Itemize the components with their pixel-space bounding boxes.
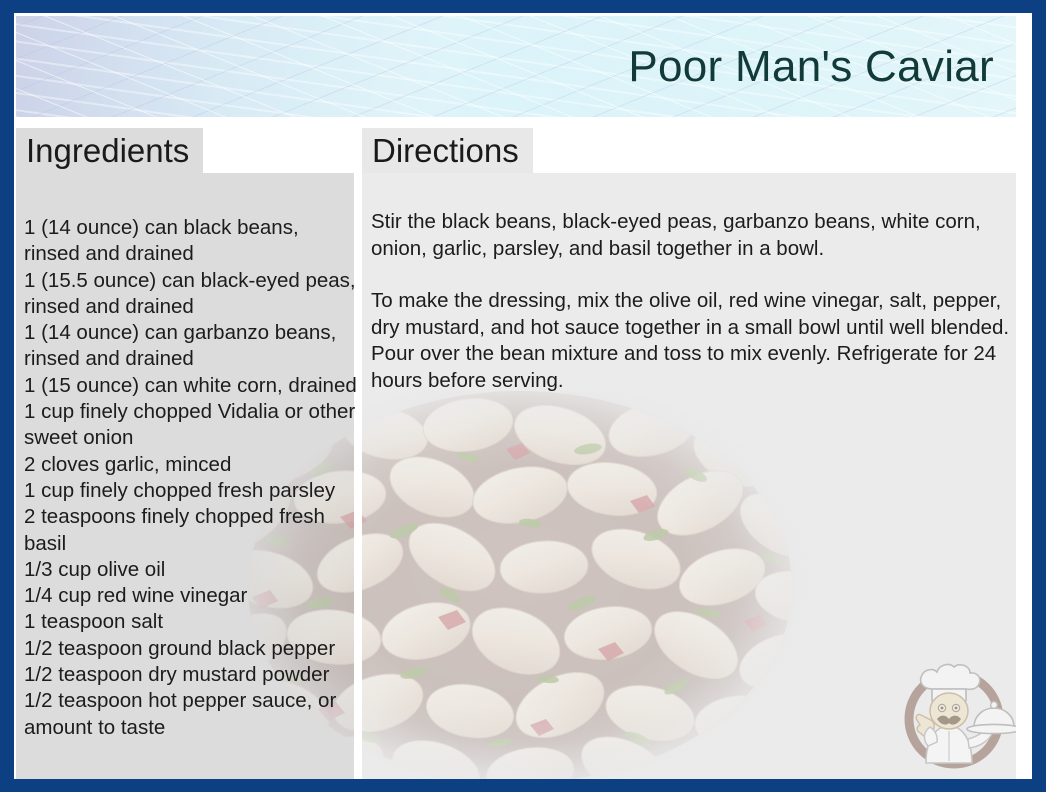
recipe-card: Poor Man's Caviar Ingredients Directions (0, 0, 1046, 792)
ingredient-item: 1 (14 ounce) can black beans, rinsed and… (24, 215, 360, 268)
direction-step: To make the dressing, mix the olive oil,… (371, 288, 1016, 394)
ingredient-item: 1/2 teaspoon hot pepper sauce, or amount… (24, 688, 360, 741)
ingredient-item: 1/4 cup red wine vinegar (24, 583, 360, 609)
recipe-page: Poor Man's Caviar Ingredients Directions (14, 13, 1032, 779)
ingredient-item: 1/3 cup olive oil (24, 557, 360, 583)
ingredient-item: 2 teaspoons finely chopped fresh basil (24, 504, 360, 557)
directions-text: Stir the black beans, black-eyed peas, g… (371, 209, 1016, 394)
ingredient-item: 1 (14 ounce) can garbanzo beans, rinsed … (24, 320, 360, 373)
ingredient-item: 1 (15 ounce) can white corn, drained (24, 373, 360, 399)
ingredients-list: 1 (14 ounce) can black beans, rinsed and… (24, 215, 360, 741)
direction-step: Stir the black beans, black-eyed peas, g… (371, 209, 1016, 262)
ingredient-item: 1/2 teaspoon ground black pepper (24, 636, 360, 662)
section-header-ingredients: Ingredients (16, 128, 203, 173)
ingredient-item: 1 cup finely chopped fresh parsley (24, 478, 360, 504)
header-banner: Poor Man's Caviar (16, 16, 1016, 117)
ingredient-item: 1/2 teaspoon dry mustard powder (24, 662, 360, 688)
ingredient-item: 1 cup finely chopped Vidalia or other sw… (24, 399, 360, 452)
page-title: Poor Man's Caviar (628, 45, 994, 89)
ingredient-item: 1 (15.5 ounce) can black-eyed peas, rins… (24, 268, 360, 321)
section-header-directions: Directions (362, 128, 533, 173)
ingredient-item: 2 cloves garlic, minced (24, 452, 360, 478)
ingredient-item: 1 teaspoon salt (24, 609, 360, 635)
